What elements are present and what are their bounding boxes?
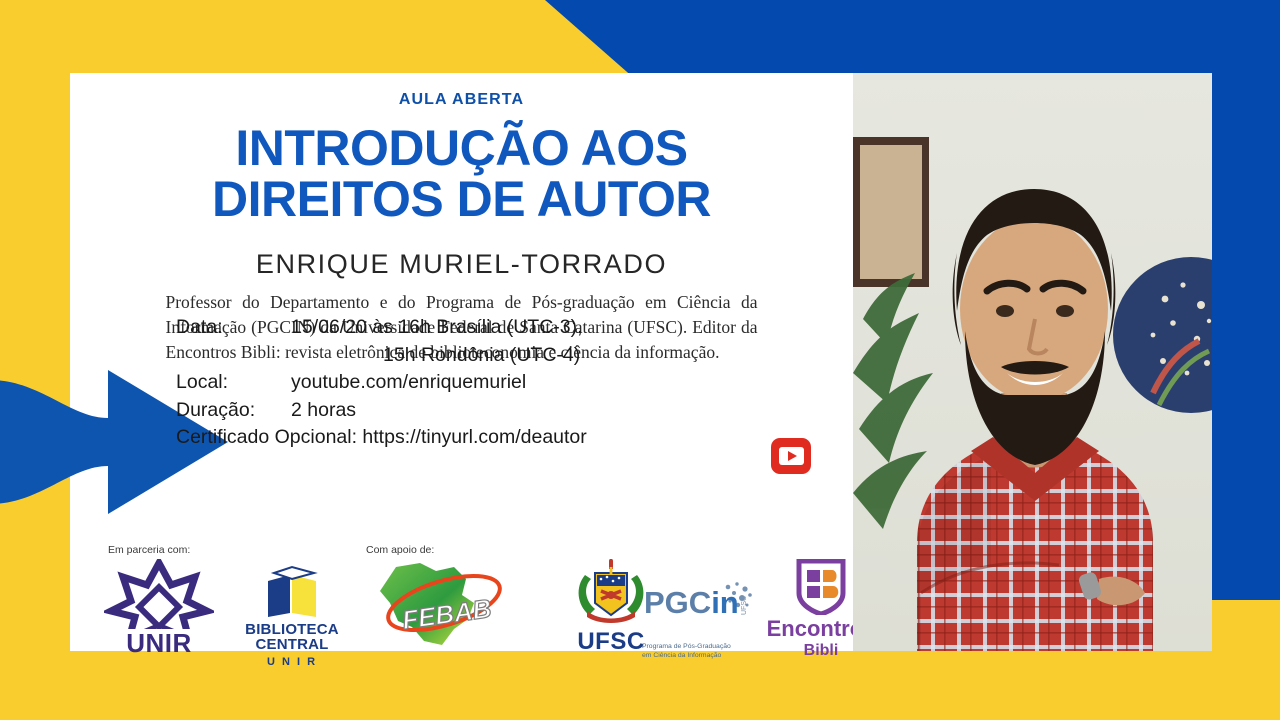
logo-pgcin: PGCin UFSC Programa de Pós-Graduação em … <box>642 581 768 647</box>
place-label: Local: <box>176 373 291 393</box>
logo-febab: FEBAB <box>362 557 522 651</box>
partner-logos: Em parceria com: Com apoio de: UNIR <box>70 535 853 651</box>
background-blue-right-bar <box>1212 0 1280 600</box>
logo-pgcin-sub-line-1: Programa de Pós-Graduação <box>642 642 768 651</box>
speaker-name: ENRIQUE MURIEL-TORRADO <box>70 249 853 280</box>
place-value[interactable]: youtube.com/enriquemuriel <box>291 373 526 393</box>
detail-row-date: Data: 15/06/20 às 16h Brasília (UTC-3), <box>176 318 587 338</box>
youtube-icon-body <box>779 447 804 465</box>
kicker-label: AULA ABERTA <box>70 91 853 109</box>
duration-value: 2 horas <box>291 401 356 421</box>
date-value: 15/06/20 às 16h Brasília (UTC-3), <box>291 318 583 338</box>
logo-pgcin-sub-line-2: em Ciência da Informação <box>642 651 768 660</box>
logo-biblioteca-central-sub: U N I R <box>212 657 372 668</box>
event-details: Data: 15/06/20 às 16h Brasília (UTC-3), … <box>176 318 587 448</box>
speaker-photo <box>853 73 1212 651</box>
page-title: INTRODUÇÃO AOS DIREITOS DE AUTOR <box>70 123 853 225</box>
detail-row-place: Local: youtube.com/enriquemuriel <box>176 373 587 393</box>
detail-row-certificate: Certificado Opcional: https://tinyurl.co… <box>176 428 587 448</box>
youtube-icon[interactable] <box>771 438 811 474</box>
title-line-1: INTRODUÇÃO AOS <box>100 123 823 174</box>
logo-biblioteca-central: BIBLIOTECA CENTRAL U N I R <box>212 565 372 651</box>
date-label: Data: <box>176 318 291 338</box>
partnership-label: Em parceria com: <box>108 544 190 556</box>
duration-label: Duração: <box>176 401 291 421</box>
support-label: Com apoio de: <box>366 544 434 556</box>
certificate-line[interactable]: Certificado Opcional: https://tinyurl.co… <box>176 428 587 448</box>
detail-row-duration: Duração: 2 horas <box>176 401 587 421</box>
logo-unir: UNIR <box>104 559 214 651</box>
poster-canvas: AULA ABERTA INTRODUÇÃO AOS DIREITOS DE A… <box>0 0 1280 720</box>
logo-pgcin-text: PGCin <box>644 585 739 620</box>
date-value-second: 15h Rondônia (UTC-4) <box>291 346 587 366</box>
logo-unir-text: UNIR <box>104 630 214 656</box>
title-line-2: DIREITOS DE AUTOR <box>100 174 823 225</box>
logo-biblioteca-central-text: BIBLIOTECA CENTRAL <box>212 622 372 652</box>
svg-text:UFSC: UFSC <box>741 596 748 615</box>
youtube-play-triangle <box>788 451 797 461</box>
